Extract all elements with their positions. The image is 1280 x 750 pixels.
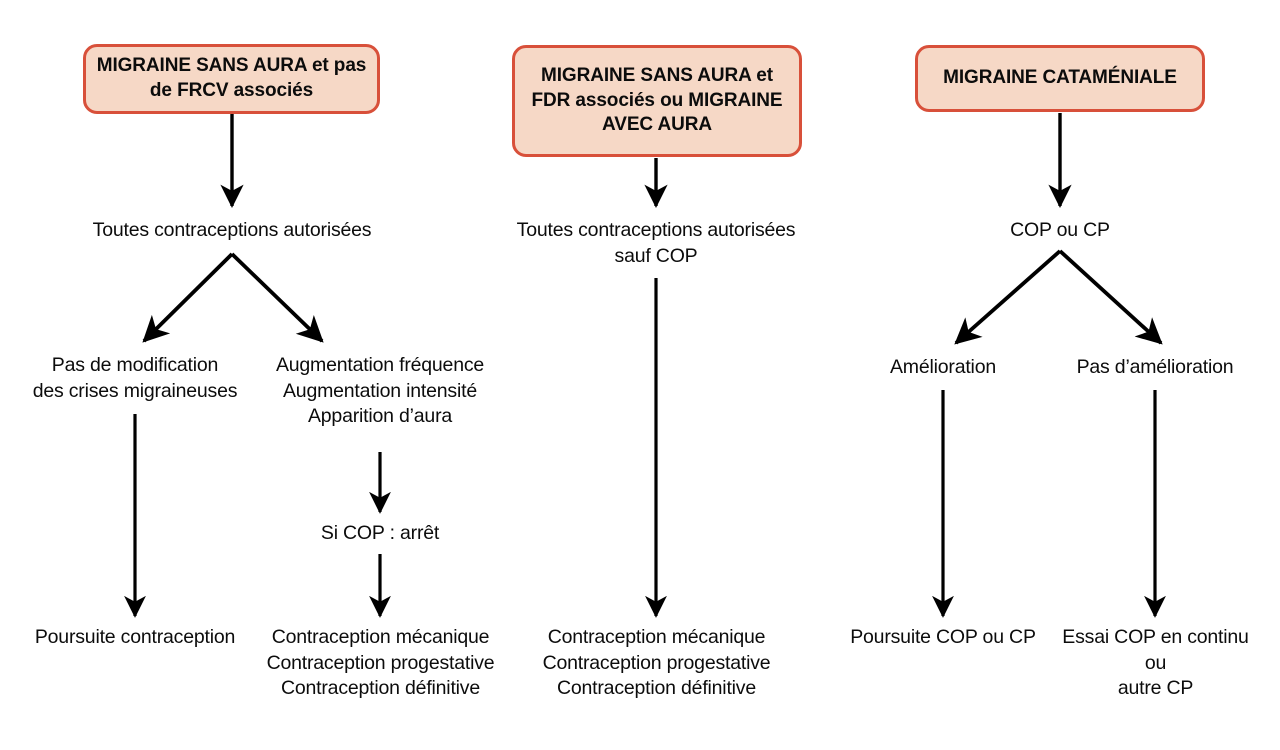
node-augmentation: Augmentation fréquence Augmentation inte…	[265, 353, 495, 430]
flowchart-diagram: MIGRAINE SANS AURA et pas de FRCV associ…	[0, 0, 1280, 750]
arrow-c3-cop-to-amelioration	[956, 251, 1060, 343]
node-line: Contraception progestative	[538, 651, 775, 677]
node-line: ou	[1058, 651, 1253, 677]
header-box-migraine-catameniale[interactable]: MIGRAINE CATAMÉNIALE	[915, 45, 1205, 112]
header-line: MIGRAINE SANS AURA	[97, 55, 307, 76]
node-pas-de-modification: Pas de modification des crises migraineu…	[15, 353, 255, 404]
node-line: Contraception mécanique	[262, 625, 499, 651]
node-line: Apparition d’aura	[265, 404, 495, 430]
header-box-migraine-sans-aura-fdr-ou-avec-aura[interactable]: MIGRAINE SANS AURA et FDR associés ou MI…	[512, 45, 802, 157]
node-line: des crises migraineuses	[15, 379, 255, 405]
node-line: Toutes contraceptions autorisées	[486, 218, 826, 244]
header-box-migraine-sans-aura-sans-frcv[interactable]: MIGRAINE SANS AURA et pas de FRCV associ…	[83, 44, 380, 114]
node-line: Contraception progestative	[262, 651, 499, 677]
node-line: Poursuite contraception	[20, 625, 250, 651]
node-contraception-alternatives-1: Contraception mécanique Contraception pr…	[262, 625, 499, 702]
node-line: Contraception définitive	[538, 676, 775, 702]
node-si-cop-arret: Si COP : arrêt	[285, 521, 475, 547]
node-essai-cop-en-continu: Essai COP en continu ou autre CP	[1058, 625, 1253, 702]
node-line: Pas de modification	[15, 353, 255, 379]
node-line: Augmentation intensité	[265, 379, 495, 405]
node-line: COP ou CP	[975, 218, 1145, 244]
header-line: MIGRAINE CATAMÉNIALE	[943, 67, 1177, 88]
node-cop-ou-cp: COP ou CP	[975, 218, 1145, 244]
node-line: Poursuite COP ou CP	[848, 625, 1038, 651]
node-poursuite-contraception: Poursuite contraception	[20, 625, 250, 651]
arrow-c3-cop-to-pas-damelioration	[1060, 251, 1161, 343]
node-line: Si COP : arrêt	[285, 521, 475, 547]
node-amelioration: Amélioration	[858, 355, 1028, 381]
arrow-c1-toutes-to-augmentation	[232, 254, 322, 341]
node-pas-damelioration: Pas d’amélioration	[1060, 355, 1250, 381]
node-toutes-contraceptions-sauf-cop: Toutes contraceptions autorisées sauf CO…	[486, 218, 826, 269]
node-poursuite-cop-ou-cp: Poursuite COP ou CP	[848, 625, 1038, 651]
node-line: sauf COP	[486, 244, 826, 270]
node-line: Contraception mécanique	[538, 625, 775, 651]
node-contraception-alternatives-2: Contraception mécanique Contraception pr…	[538, 625, 775, 702]
node-line: Essai COP en continu	[1058, 625, 1253, 651]
header-line: MIGRAINE SANS AURA	[541, 65, 751, 86]
node-line: Toutes contraceptions autorisées	[62, 218, 402, 244]
node-line: Amélioration	[858, 355, 1028, 381]
node-line: Augmentation fréquence	[265, 353, 495, 379]
node-line: Contraception définitive	[262, 676, 499, 702]
node-line: autre CP	[1058, 676, 1253, 702]
node-toutes-contraceptions-autorisees: Toutes contraceptions autorisées	[62, 218, 402, 244]
arrow-c1-toutes-to-pas-de-modification	[144, 254, 232, 341]
node-line: Pas d’amélioration	[1060, 355, 1250, 381]
